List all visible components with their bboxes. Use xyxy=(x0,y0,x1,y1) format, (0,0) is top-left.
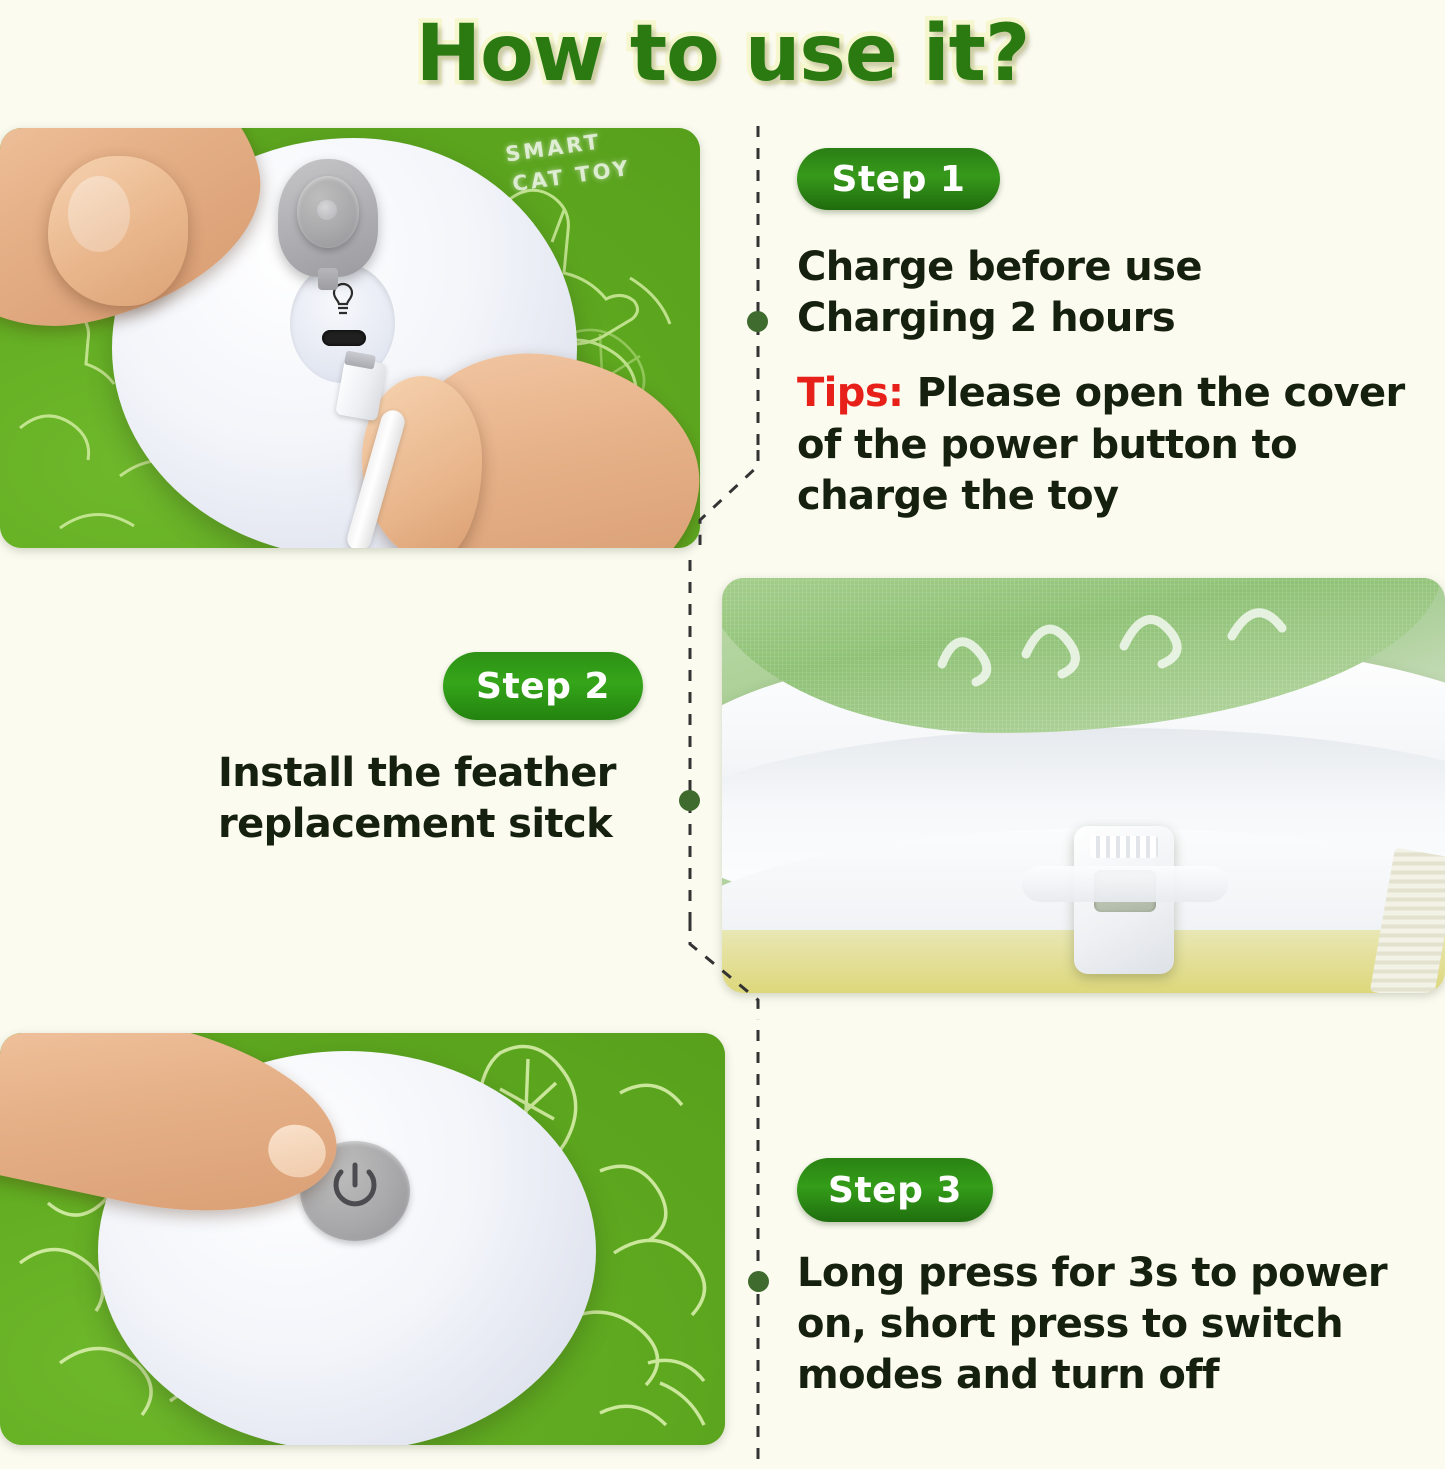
thumb-nail-upper xyxy=(68,176,130,252)
step-1-marker-dot xyxy=(747,311,768,332)
photo-charging: SMART CAT TOY xyxy=(0,128,700,548)
badge-step-1: Step 1 xyxy=(797,148,1000,210)
page-title: How to use it? xyxy=(416,9,1029,99)
cover-button-dot xyxy=(317,200,337,220)
step-2-heading-line-2: replacement sitck xyxy=(218,799,668,850)
step-3-heading-line-3: modes and turn off xyxy=(797,1350,1437,1401)
badge-step-3-label: Step 3 xyxy=(828,1170,962,1211)
step-1-tips-label: Tips: xyxy=(797,370,903,416)
step-3-text: Long press for 3s to power on, short pre… xyxy=(797,1248,1437,1402)
power-icon xyxy=(328,1159,382,1219)
step-1-heading-line-1: Charge before use xyxy=(797,242,1445,293)
badge-step-2-label: Step 2 xyxy=(476,666,610,707)
step-2-marker-dot xyxy=(679,790,700,811)
clip-slot-ridges xyxy=(1090,836,1158,858)
photo-clip xyxy=(722,578,1445,993)
badge-step-2: Step 2 xyxy=(443,652,643,720)
step-3-marker-dot xyxy=(748,1271,769,1292)
step-1-heading-line-2: Charging 2 hours xyxy=(797,293,1445,344)
step-1-text: Charge before use Charging 2 hours Tips:… xyxy=(797,242,1445,522)
cover-hinge xyxy=(318,268,338,290)
step-3-heading-line-2: on, short press to switch xyxy=(797,1299,1437,1350)
title-bar: How to use it? xyxy=(0,4,1445,104)
clip-slot-wings xyxy=(1022,866,1228,902)
photo-power xyxy=(0,1033,725,1445)
step-2-heading-line-1: Install the feather xyxy=(218,748,668,799)
step-1-tips: Tips: Please open the cover of the power… xyxy=(797,368,1445,522)
badge-step-1-label: Step 1 xyxy=(832,159,966,200)
step-3-heading-line-1: Long press for 3s to power xyxy=(797,1248,1437,1299)
badge-step-3: Step 3 xyxy=(797,1158,993,1222)
usb-c-port xyxy=(322,330,366,346)
mesh-fabric-pattern-icon xyxy=(902,592,1322,702)
step-2-text: Install the feather replacement sitck xyxy=(218,748,668,850)
